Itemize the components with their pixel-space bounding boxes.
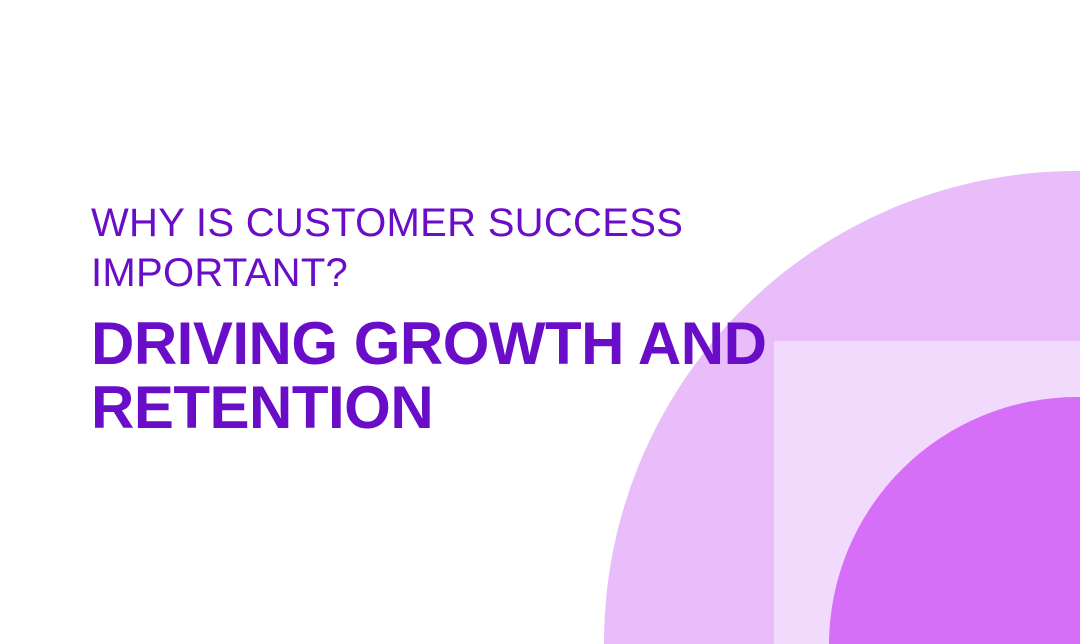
slide-text-block: WHY IS CUSTOMER SUCCESS IMPORTANT? DRIVI… <box>91 198 791 440</box>
slide-eyebrow: WHY IS CUSTOMER SUCCESS IMPORTANT? <box>91 198 791 298</box>
light-square-shape <box>774 341 1080 644</box>
slide-headline: DRIVING GROWTH AND RETENTION <box>91 298 791 440</box>
inner-circle-shape <box>829 397 1080 644</box>
presentation-slide: WHY IS CUSTOMER SUCCESS IMPORTANT? DRIVI… <box>0 0 1080 644</box>
